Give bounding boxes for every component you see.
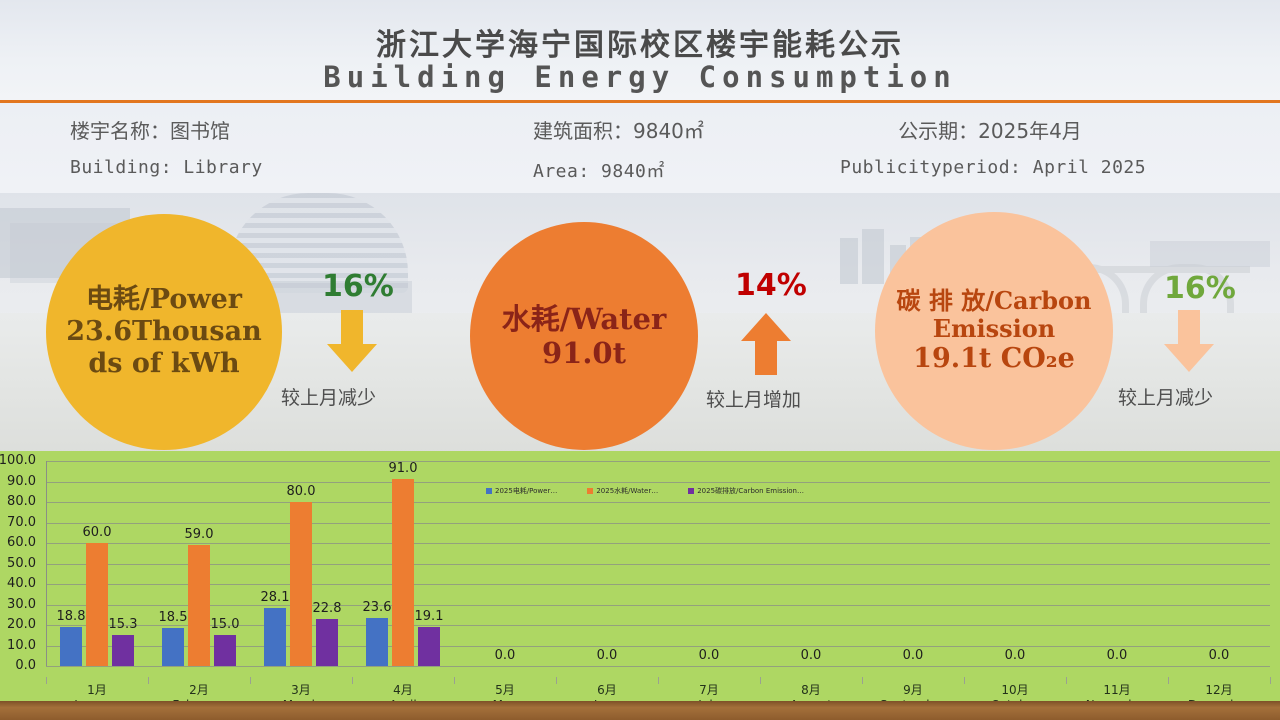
chart-x-tick-cn: 9月 bbox=[862, 683, 964, 698]
chart-y-tick-label: 20.0 bbox=[0, 617, 36, 632]
chart-y-tick-label: 0.0 bbox=[0, 658, 36, 673]
chart-y-tick-label: 60.0 bbox=[0, 535, 36, 550]
chart-bar-value-label: 19.1 bbox=[407, 609, 451, 624]
header: 浙江大学海宁国际校区楼宇能耗公示 Building Energy Consump… bbox=[0, 0, 1280, 100]
chart-gridline bbox=[46, 605, 1270, 606]
info-area-cn: 建筑面积：9840㎡ bbox=[533, 115, 704, 144]
water-percent: 14% bbox=[735, 268, 807, 303]
info-area: 建筑面积：9840㎡ Area: 9840㎡ bbox=[533, 115, 704, 183]
chart-bar-value-label: 91.0 bbox=[381, 461, 425, 476]
chart-x-tick-cn: 8月 bbox=[760, 683, 862, 698]
chart-gridline bbox=[46, 666, 1270, 667]
info-period-en: Publicityperiod: April 2025 bbox=[840, 157, 1146, 178]
power-line1: 电耗/Power bbox=[66, 284, 261, 316]
metric-circle-carbon: 碳 排 放/Carbon Emission 19.1t CO₂e bbox=[875, 212, 1113, 450]
chart-bar[interactable] bbox=[264, 608, 286, 666]
chart-gridline bbox=[46, 543, 1270, 544]
chart-x-tick-cn: 3月 bbox=[250, 683, 352, 698]
info-building: 楼宇名称：图书馆 Building: Library bbox=[70, 115, 263, 178]
chart-bar[interactable] bbox=[86, 543, 108, 666]
poster-root: 浙江大学海宁国际校区楼宇能耗公示 Building Energy Consump… bbox=[0, 0, 1280, 720]
info-period: 公示期：2025年4月 Publicityperiod: April 2025 bbox=[840, 115, 1146, 178]
water-line1: 水耗/Water bbox=[502, 302, 667, 336]
chart-bar[interactable] bbox=[112, 635, 134, 666]
chart-bar-value-label: 15.3 bbox=[101, 617, 145, 632]
arrow-down-icon-power bbox=[325, 310, 379, 372]
footer-band bbox=[0, 701, 1280, 720]
chart-x-tick-cn: 4月 bbox=[352, 683, 454, 698]
chart-x-tick-mark bbox=[46, 677, 47, 684]
chart-gridline bbox=[46, 482, 1270, 483]
carbon-line2: Emission bbox=[896, 315, 1091, 343]
chart-bar-value-label: 0.0 bbox=[582, 648, 632, 663]
chart-x-tick-cn: 7月 bbox=[658, 683, 760, 698]
chart-legend: 2025电耗/Power…2025水耗/Water…2025碳排放/Carbon… bbox=[486, 486, 804, 496]
chart-legend-swatch bbox=[688, 488, 694, 494]
carbon-percent: 16% bbox=[1164, 271, 1236, 306]
water-line2: 91.0t bbox=[502, 336, 667, 370]
skyline-shape bbox=[862, 229, 884, 284]
chart-bar[interactable] bbox=[188, 545, 210, 666]
chart-legend-item[interactable]: 2025电耗/Power… bbox=[486, 486, 557, 496]
chart-bar-value-label: 0.0 bbox=[786, 648, 836, 663]
metric-circle-power: 电耗/Power 23.6Thousan ds of kWh bbox=[46, 214, 282, 450]
skyline-shape bbox=[840, 238, 858, 284]
chart-plot-area: 2025电耗/Power…2025水耗/Water…2025碳排放/Carbon… bbox=[46, 461, 1270, 666]
power-line3: ds of kWh bbox=[66, 348, 261, 380]
chart-bar-value-label: 80.0 bbox=[279, 484, 323, 499]
info-row: 楼宇名称：图书馆 Building: Library 建筑面积：9840㎡ Ar… bbox=[0, 103, 1280, 193]
chart-y-tick-label: 80.0 bbox=[0, 494, 36, 509]
chart-bar[interactable] bbox=[162, 628, 184, 666]
chart-y-tick-label: 90.0 bbox=[0, 474, 36, 489]
carbon-line3: 19.1t CO₂e bbox=[896, 343, 1091, 375]
carbon-compare-label: 较上月减少 bbox=[1118, 383, 1213, 410]
chart-y-tick-label: 70.0 bbox=[0, 515, 36, 530]
chart-bar[interactable] bbox=[290, 502, 312, 666]
chart-gridline bbox=[46, 502, 1270, 503]
power-percent: 16% bbox=[322, 269, 394, 304]
info-building-cn: 楼宇名称：图书馆 bbox=[70, 115, 263, 144]
chart-x-tick-cn: 5月 bbox=[454, 683, 556, 698]
chart-x-tick-cn: 11月 bbox=[1066, 683, 1168, 698]
chart-bar-value-label: 0.0 bbox=[480, 648, 530, 663]
chart-x-tick-cn: 12月 bbox=[1168, 683, 1270, 698]
chart-y-tick-label: 40.0 bbox=[0, 576, 36, 591]
chart-legend-item[interactable]: 2025碳排放/Carbon Emission… bbox=[688, 486, 804, 496]
chart-bar-value-label: 0.0 bbox=[990, 648, 1040, 663]
chart-legend-label: 2025电耗/Power… bbox=[495, 486, 557, 496]
chart-bar-value-label: 0.0 bbox=[888, 648, 938, 663]
power-compare-label: 较上月减少 bbox=[281, 383, 376, 410]
info-period-cn: 公示期：2025年4月 bbox=[840, 115, 1140, 144]
chart-gridline bbox=[46, 584, 1270, 585]
chart-bar[interactable] bbox=[418, 627, 440, 666]
chart-legend-swatch bbox=[587, 488, 593, 494]
chart-bar[interactable] bbox=[214, 635, 236, 666]
chart-y-tick-label: 100.0 bbox=[0, 453, 36, 468]
page-title-en: Building Energy Consumption bbox=[0, 60, 1280, 94]
chart-bar-value-label: 22.8 bbox=[305, 601, 349, 616]
chart-gridline bbox=[46, 523, 1270, 524]
chart-y-tick-label: 10.0 bbox=[0, 638, 36, 653]
chart-legend-label: 2025碳排放/Carbon Emission… bbox=[697, 486, 804, 496]
chart-bar-value-label: 0.0 bbox=[1092, 648, 1142, 663]
chart-bar[interactable] bbox=[366, 618, 388, 666]
chart-legend-label: 2025水耗/Water… bbox=[596, 486, 658, 496]
chart-y-tick-label: 30.0 bbox=[0, 597, 36, 612]
chart-bar-value-label: 0.0 bbox=[1194, 648, 1244, 663]
water-compare-label: 较上月增加 bbox=[706, 385, 801, 412]
chart-y-tick-label: 50.0 bbox=[0, 556, 36, 571]
energy-bar-chart: 2025电耗/Power…2025水耗/Water…2025碳排放/Carbon… bbox=[0, 451, 1280, 701]
chart-bar[interactable] bbox=[392, 479, 414, 666]
carbon-line1: 碳 排 放/Carbon bbox=[896, 287, 1091, 315]
chart-x-tick-cn: 10月 bbox=[964, 683, 1066, 698]
chart-legend-item[interactable]: 2025水耗/Water… bbox=[587, 486, 658, 496]
chart-x-tick-mark bbox=[1270, 677, 1271, 684]
chart-x-tick-cn: 6月 bbox=[556, 683, 658, 698]
chart-legend-swatch bbox=[486, 488, 492, 494]
chart-bar[interactable] bbox=[316, 619, 338, 666]
chart-gridline bbox=[46, 461, 1270, 462]
metric-circle-water: 水耗/Water 91.0t bbox=[470, 222, 698, 450]
info-building-en: Building: Library bbox=[70, 157, 263, 178]
info-area-en: Area: 9840㎡ bbox=[533, 157, 704, 183]
chart-bar-value-label: 15.0 bbox=[203, 617, 247, 632]
chart-gridline bbox=[46, 564, 1270, 565]
chart-x-tick-cn: 2月 bbox=[148, 683, 250, 698]
power-line2: 23.6Thousan bbox=[66, 316, 261, 348]
chart-bar-value-label: 0.0 bbox=[684, 648, 734, 663]
page-title-cn: 浙江大学海宁国际校区楼宇能耗公示 bbox=[0, 20, 1280, 64]
arrow-down-icon-carbon bbox=[1162, 310, 1216, 372]
arrow-up-icon-water bbox=[740, 313, 792, 375]
chart-x-tick-cn: 1月 bbox=[46, 683, 148, 698]
chart-bar[interactable] bbox=[60, 627, 82, 666]
chart-bar-value-label: 59.0 bbox=[177, 527, 221, 542]
chart-bar-value-label: 60.0 bbox=[75, 525, 119, 540]
